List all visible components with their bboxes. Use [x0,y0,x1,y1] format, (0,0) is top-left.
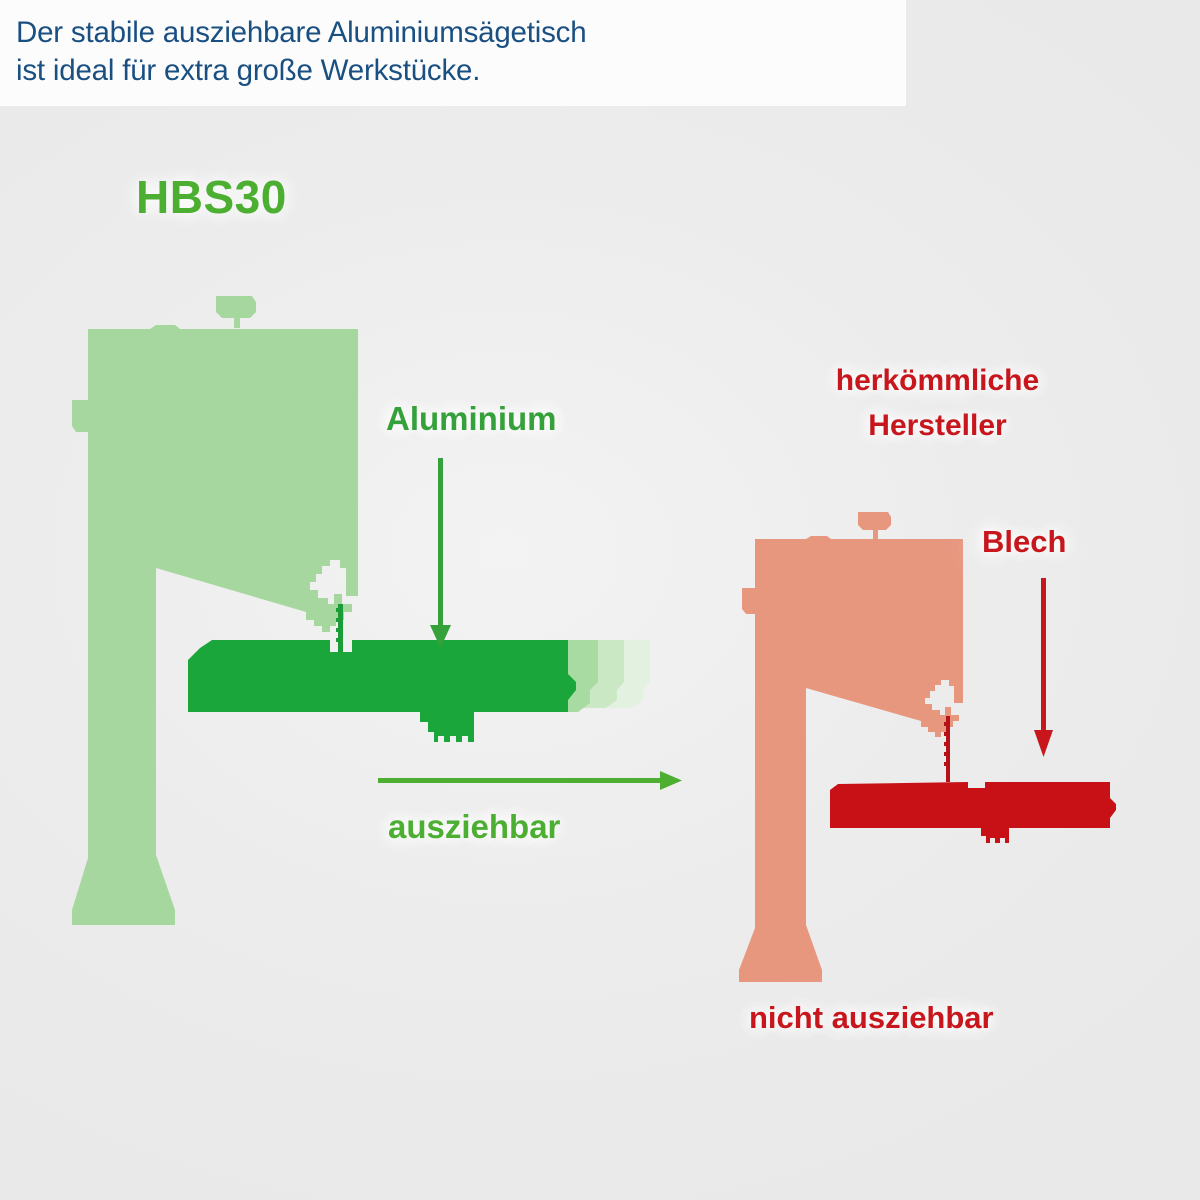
label-not-extendable: nicht ausziehbar [749,1000,994,1036]
side-lug-red [742,588,755,614]
label-blech: Blech [982,524,1066,560]
top-knob-red [858,512,891,539]
column-base-green [72,690,175,925]
caption-line-1: Der stabile ausziehbare Aluminiumsägetis… [16,14,906,52]
column-base-red [739,790,822,982]
column-red [755,760,806,860]
table-ghost-2 [528,640,624,708]
caption-banner: Der stabile ausziehbare Aluminiumsägetis… [0,0,906,106]
saw-blade-red [944,716,950,782]
aluminium-table-green [188,640,576,742]
label-conventional-manufacturers: herkömmliche Hersteller [800,358,1075,448]
upper-housing-red [755,536,963,790]
upper-housing-green [88,325,358,690]
sheet-table-red [830,782,1116,843]
label-ausziehbar: ausziehbar [388,808,560,846]
conventional-heading-line-2: Hersteller [868,409,1006,442]
arrow-right-ausziehbar [378,771,682,790]
arrow-down-blech [1034,578,1053,757]
bandsaw-frame-red [739,512,963,982]
infographic-canvas: Der stabile ausziehbare Aluminiumsägetis… [0,0,1200,1200]
table-ghost-1 [500,640,598,712]
saw-blade-green [336,604,343,652]
caption-line-2: ist ideal für extra große Werkstücke. [16,52,906,90]
model-label: HBS30 [136,170,287,224]
label-aluminium: Aluminium [386,400,557,438]
column-green [88,640,156,760]
side-lug-green [72,400,88,432]
top-knob-green [216,296,256,328]
table-ghost-3 [555,640,650,708]
table-extension-ghosts [500,640,650,712]
arrow-down-aluminium [430,458,451,648]
bandsaw-frame-green [72,296,358,925]
conventional-heading-line-1: herkömmliche [836,364,1039,397]
